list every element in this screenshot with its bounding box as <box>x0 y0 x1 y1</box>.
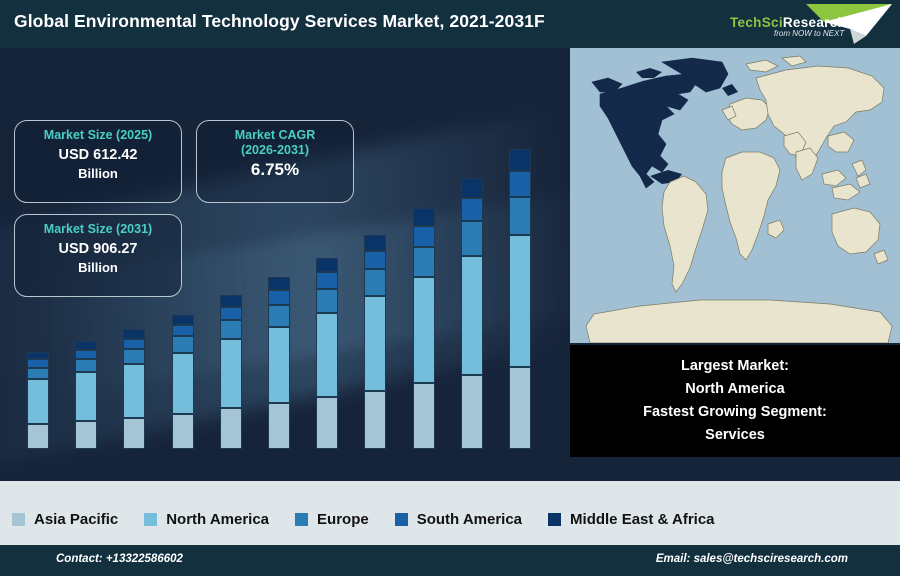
bar-segment-middle-east-africa <box>27 352 49 359</box>
bar-segment-asia-pacific <box>268 403 290 449</box>
bar-segment-south-america <box>461 198 483 221</box>
bar-2029F <box>413 208 435 449</box>
legend-item-europe[interactable]: Europe <box>295 511 369 528</box>
bar-segment-middle-east-africa <box>172 315 194 325</box>
bar-segment-south-america <box>268 290 290 305</box>
bar-segment-south-america <box>364 251 386 269</box>
legend-swatch-icon <box>12 513 25 526</box>
bar-2024 <box>172 315 194 449</box>
info-line-fastest-segment-label: Fastest Growing Segment: <box>643 401 827 424</box>
bar-segment-north-america <box>461 256 483 375</box>
bar-segment-europe <box>461 221 483 256</box>
bar-segment-middle-east-africa <box>461 178 483 198</box>
footer-bar: Contact: +13322586602 Email: sales@techs… <box>0 545 900 576</box>
bar-segment-asia-pacific <box>123 418 145 449</box>
logo-brand-first: TechSci <box>730 15 783 30</box>
legend-label: North America <box>166 511 269 528</box>
bar-segment-asia-pacific <box>364 391 386 449</box>
legend-item-asia-pacific[interactable]: Asia Pacific <box>12 511 118 528</box>
footer-email: Email: sales@techsciresearch.com <box>656 553 848 565</box>
bar-segment-middle-east-africa <box>413 208 435 226</box>
bar-segment-north-america <box>220 339 242 408</box>
bar-segment-north-america <box>172 353 194 414</box>
bar-2031F <box>509 149 531 449</box>
bar-segment-middle-east-africa <box>316 258 338 272</box>
bar-segment-asia-pacific <box>509 367 531 449</box>
bar-2025 <box>220 295 242 449</box>
bar-segment-asia-pacific <box>27 424 49 449</box>
page-title: Global Environmental Technology Services… <box>14 11 545 32</box>
infographic-root: Global Environmental Technology Services… <box>0 0 900 576</box>
bar-2030F <box>461 178 483 449</box>
bar-segment-europe <box>268 305 290 326</box>
bar-2027F <box>316 258 338 449</box>
bar-segment-middle-east-africa <box>220 295 242 307</box>
bar-segment-middle-east-africa <box>123 329 145 338</box>
bar-segment-middle-east-africa <box>268 277 290 290</box>
bar-segment-north-america <box>27 379 49 424</box>
bar-segment-north-america <box>316 313 338 398</box>
world-map-svg <box>570 48 900 343</box>
bar-segment-europe <box>27 368 49 380</box>
techsci-research-logo[interactable]: TechSciResearch from NOW to NEXT <box>714 2 894 46</box>
bar-segment-asia-pacific <box>172 414 194 449</box>
bar-segment-north-america <box>75 372 97 421</box>
footer-contact: Contact: +13322586602 <box>56 553 183 565</box>
bar-segment-middle-east-africa <box>509 149 531 171</box>
legend-swatch-icon <box>295 513 308 526</box>
bar-segment-europe <box>172 336 194 352</box>
bar-segment-europe <box>316 289 338 313</box>
bar-segment-asia-pacific <box>75 421 97 449</box>
legend-label: South America <box>417 511 522 528</box>
bar-segment-europe <box>509 197 531 236</box>
info-box: Largest Market: North America Fastest Gr… <box>570 345 900 457</box>
bar-segment-south-america <box>75 350 97 359</box>
bar-2028F <box>364 235 386 449</box>
legend-label: Asia Pacific <box>34 511 118 528</box>
bar-segment-europe <box>75 359 97 372</box>
bar-segment-middle-east-africa <box>364 235 386 251</box>
legend-item-north-america[interactable]: North America <box>144 511 269 528</box>
bar-segment-middle-east-africa <box>75 341 97 349</box>
legend-item-south-america[interactable]: South America <box>395 511 522 528</box>
bar-segment-asia-pacific <box>316 397 338 449</box>
legend-label: Europe <box>317 511 369 528</box>
bar-segment-europe <box>123 349 145 364</box>
legend-swatch-icon <box>548 513 561 526</box>
world-map <box>570 48 900 343</box>
info-line-largest-market-value: North America <box>685 378 784 401</box>
bar-segment-south-america <box>316 272 338 288</box>
bar-segment-europe <box>364 269 386 296</box>
stacked-bar-chart <box>0 48 570 481</box>
bar-segment-north-america <box>413 277 435 383</box>
bar-segment-south-america <box>172 325 194 337</box>
legend-label: Middle East & Africa <box>570 511 714 528</box>
legend-item-middle-east-africa[interactable]: Middle East & Africa <box>548 511 714 528</box>
chart-legend: Asia PacificNorth AmericaEuropeSouth Ame… <box>0 481 900 543</box>
bar-segment-asia-pacific <box>413 383 435 449</box>
bar-segment-europe <box>220 320 242 339</box>
bar-2021 <box>27 352 49 449</box>
bar-segment-north-america <box>364 296 386 391</box>
bar-segment-north-america <box>268 327 290 403</box>
legend-swatch-icon <box>395 513 408 526</box>
bar-2022 <box>75 341 97 449</box>
bar-segment-south-america <box>220 307 242 320</box>
bar-2026E <box>268 277 290 449</box>
bar-segment-south-america <box>27 359 49 367</box>
header-bar: Global Environmental Technology Services… <box>0 0 900 48</box>
legend-swatch-icon <box>144 513 157 526</box>
info-line-largest-market-label: Largest Market: <box>681 355 789 378</box>
info-line-fastest-segment-value: Services <box>705 424 765 447</box>
logo-wordmark: TechSciResearch <box>730 15 846 30</box>
logo-brand-second: Research <box>783 15 846 30</box>
bar-2023 <box>123 329 145 449</box>
bar-segment-south-america <box>123 339 145 349</box>
bar-segment-asia-pacific <box>220 408 242 449</box>
bar-segment-north-america <box>123 364 145 418</box>
legend-items: Asia PacificNorth AmericaEuropeSouth Ame… <box>12 507 892 531</box>
bar-segment-south-america <box>509 171 531 196</box>
bar-segment-south-america <box>413 226 435 247</box>
logo-tagline: from NOW to NEXT <box>774 29 844 38</box>
bar-segment-asia-pacific <box>461 375 483 449</box>
bar-segment-north-america <box>509 235 531 367</box>
bar-segment-europe <box>413 247 435 277</box>
